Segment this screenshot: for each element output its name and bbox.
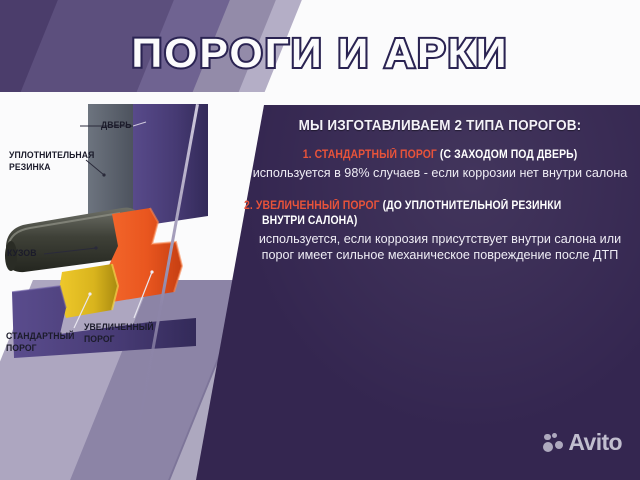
diagram-dot-enlarged	[150, 270, 153, 273]
sill-cross-section-diagram: ДВЕРЬ УПЛОТНИТЕЛЬНАЯ РЕЗИНКА КУЗОВ СТАНД…	[0, 96, 250, 361]
sill-type-section-2: 2. УВЕЛИЧЕННЫЙ ПОРОГ (ДО УПЛОТНИТЕЛЬНОЙ …	[244, 198, 636, 263]
avito-wordmark: Avito	[568, 429, 622, 456]
diagram-dot-body	[94, 246, 97, 249]
diagram-body-panel	[128, 104, 208, 228]
diagram-label-standard-sill: СТАНДАРТНЫЙ ПОРОГ	[6, 331, 79, 354]
diagram-label-door: ДВЕРЬ	[101, 120, 132, 132]
diagram-label-seal: УПЛОТНИТЕЛЬНАЯ РЕЗИНКА	[9, 150, 95, 173]
page-title: ПОРОГИ И АРКИ	[0, 30, 640, 77]
avito-watermark: Avito	[543, 429, 622, 456]
sill-type-1-name: 1. СТАНДАРТНЫЙ ПОРОГ	[303, 148, 437, 161]
diagram-dot-seal	[102, 173, 105, 176]
diagram-standard-sill	[58, 264, 118, 318]
sill-type-1-heading: 1. СТАНДАРТНЫЙ ПОРОГ (С ЗАХОДОМ ПОД ДВЕР…	[264, 147, 617, 162]
diagram-label-body: КУЗОВ	[7, 248, 37, 260]
sill-type-1-note: (С ЗАХОДОМ ПОД ДВЕРЬ)	[437, 148, 577, 161]
sill-type-2-heading: 2. УВЕЛИЧЕННЫЙ ПОРОГ (ДО УПЛОТНИТЕЛЬНОЙ …	[244, 198, 597, 228]
poster-canvas: ПОРОГИ И АРКИ	[0, 0, 640, 480]
sill-type-1-description: используется в 98% случаев - если корроз…	[244, 165, 636, 181]
info-panel-content: МЫ ИЗГОТАВЛИВАЕМ 2 ТИПА ПОРОГОВ: 1. СТАН…	[244, 118, 636, 263]
sill-type-2-description: используется, если коррозия присутствует…	[244, 231, 636, 263]
info-panel-title: МЫ ИЗГОТАВЛИВАЕМ 2 ТИПА ПОРОГОВ:	[258, 118, 623, 134]
diagram-label-enlarged-sill: УВЕЛИЧЕННЫЙ ПОРОГ	[84, 322, 148, 345]
sill-type-section-1: 1. СТАНДАРТНЫЙ ПОРОГ (С ЗАХОДОМ ПОД ДВЕР…	[244, 147, 636, 181]
diagram-dot-standard	[88, 292, 91, 295]
avito-logo-icon	[543, 432, 564, 453]
sill-type-2-name: 2. УВЕЛИЧЕННЫЙ ПОРОГ	[244, 199, 380, 212]
